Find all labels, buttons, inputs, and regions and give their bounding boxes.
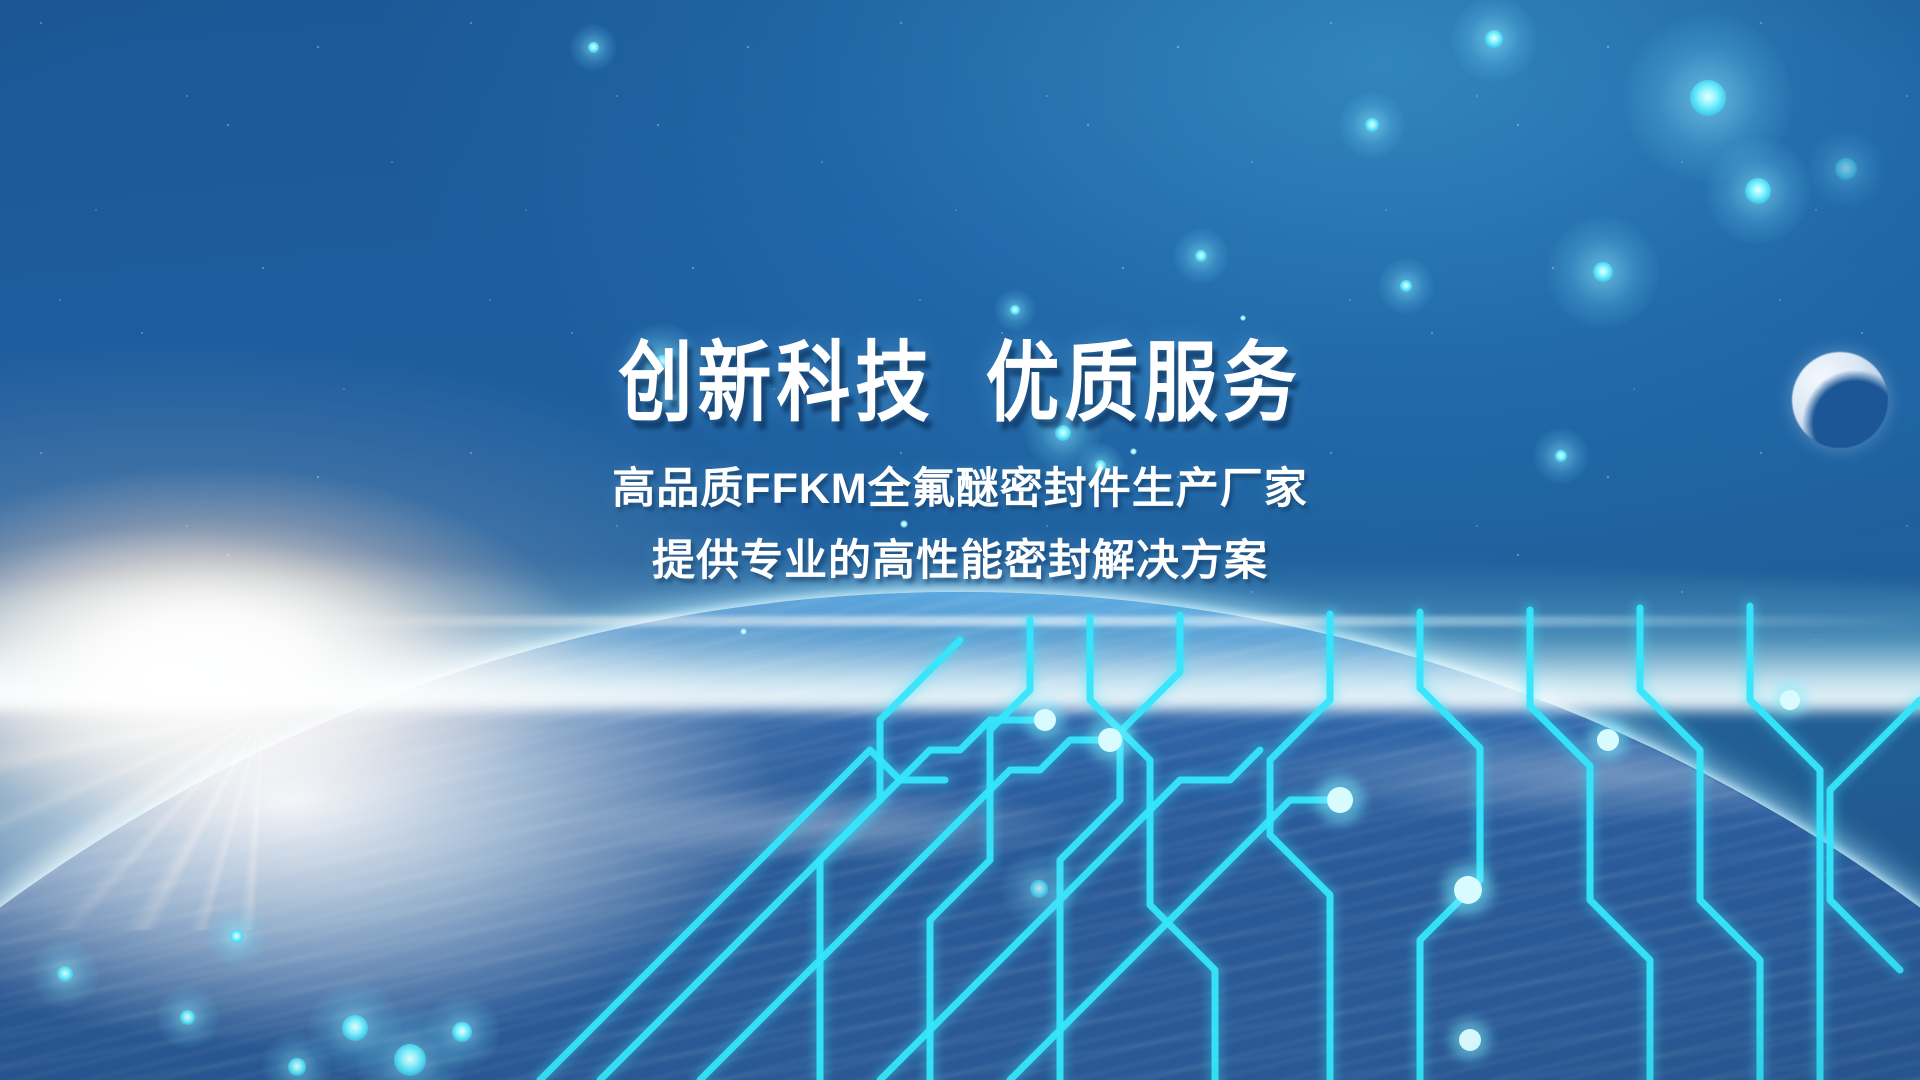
bokeh-orb <box>1593 262 1613 282</box>
bokeh-orb <box>57 966 73 982</box>
bokeh-orb <box>180 1010 195 1025</box>
bokeh-orb <box>1690 80 1726 116</box>
spark-particle <box>1240 315 1246 321</box>
bokeh-orb <box>1365 118 1379 132</box>
subtitle-line-2: 提供专业的高性能密封解决方案 <box>0 526 1920 588</box>
bokeh-orb <box>452 1022 472 1042</box>
earth-surface <box>0 592 1920 1080</box>
bokeh-orb <box>342 1015 368 1041</box>
subtitle-line-1: 高品质FFKM全氟醚密封件生产厂家 <box>0 454 1920 516</box>
bokeh-orb <box>1485 30 1503 48</box>
bokeh-orb <box>230 930 243 943</box>
bokeh-orb <box>1835 158 1857 180</box>
hero-banner: 创新科技 优质服务 高品质FFKM全氟醚密封件生产厂家 提供专业的高性能密封解决… <box>0 0 1920 1080</box>
circuit-line-group <box>540 606 1920 1080</box>
banner-text-block: 创新科技 优质服务 高品质FFKM全氟醚密封件生产厂家 提供专业的高性能密封解决… <box>0 340 1920 588</box>
bokeh-orb <box>394 1044 426 1076</box>
bokeh-orb <box>1195 250 1207 262</box>
circuit-node-group <box>1025 682 1808 1060</box>
lens-flare-streak <box>300 616 1920 626</box>
spark-particle <box>740 628 747 635</box>
bokeh-orb <box>1030 880 1048 898</box>
page-title: 创新科技 优质服务 <box>0 340 1920 427</box>
bokeh-orb <box>288 1058 306 1076</box>
bokeh-orb <box>1745 178 1771 204</box>
circuit-glow-group <box>540 606 1920 1080</box>
bokeh-orb <box>1400 280 1412 292</box>
bokeh-orb <box>588 42 599 53</box>
cloud-texture <box>0 592 1920 1080</box>
bokeh-orb <box>1010 305 1020 315</box>
